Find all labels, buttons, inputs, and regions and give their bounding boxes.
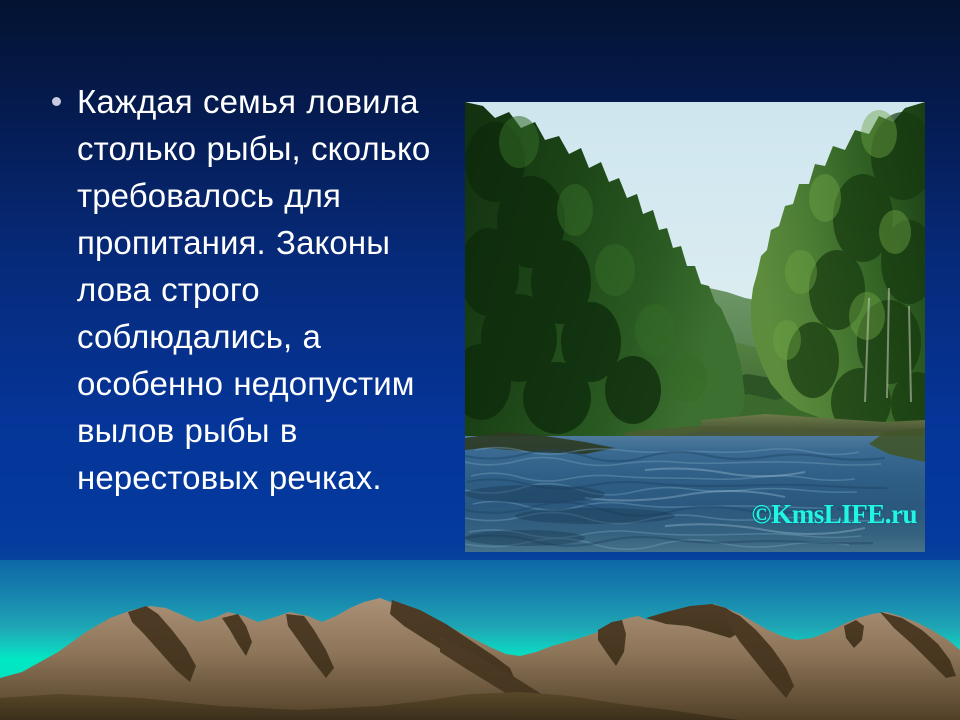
presentation-slide: ©KmsLIFE.ru Каждая семья ловила столько … [0, 0, 960, 720]
bullet-marker-icon [52, 97, 61, 106]
slide-text-block: Каждая семья ловила столько рыбы, скольк… [52, 78, 452, 501]
river-scene-illustration [465, 102, 925, 552]
bullet-item-text: Каждая семья ловила столько рыбы, скольк… [77, 78, 452, 501]
photo-watermark: ©KmsLIFE.ru [752, 499, 917, 530]
river-photograph: ©KmsLIFE.ru [465, 102, 925, 552]
bottom-scenery-band [0, 560, 960, 720]
bullet-list-item: Каждая семья ловила столько рыбы, скольк… [52, 78, 452, 501]
mountain-silhouette-graphic [0, 560, 960, 720]
